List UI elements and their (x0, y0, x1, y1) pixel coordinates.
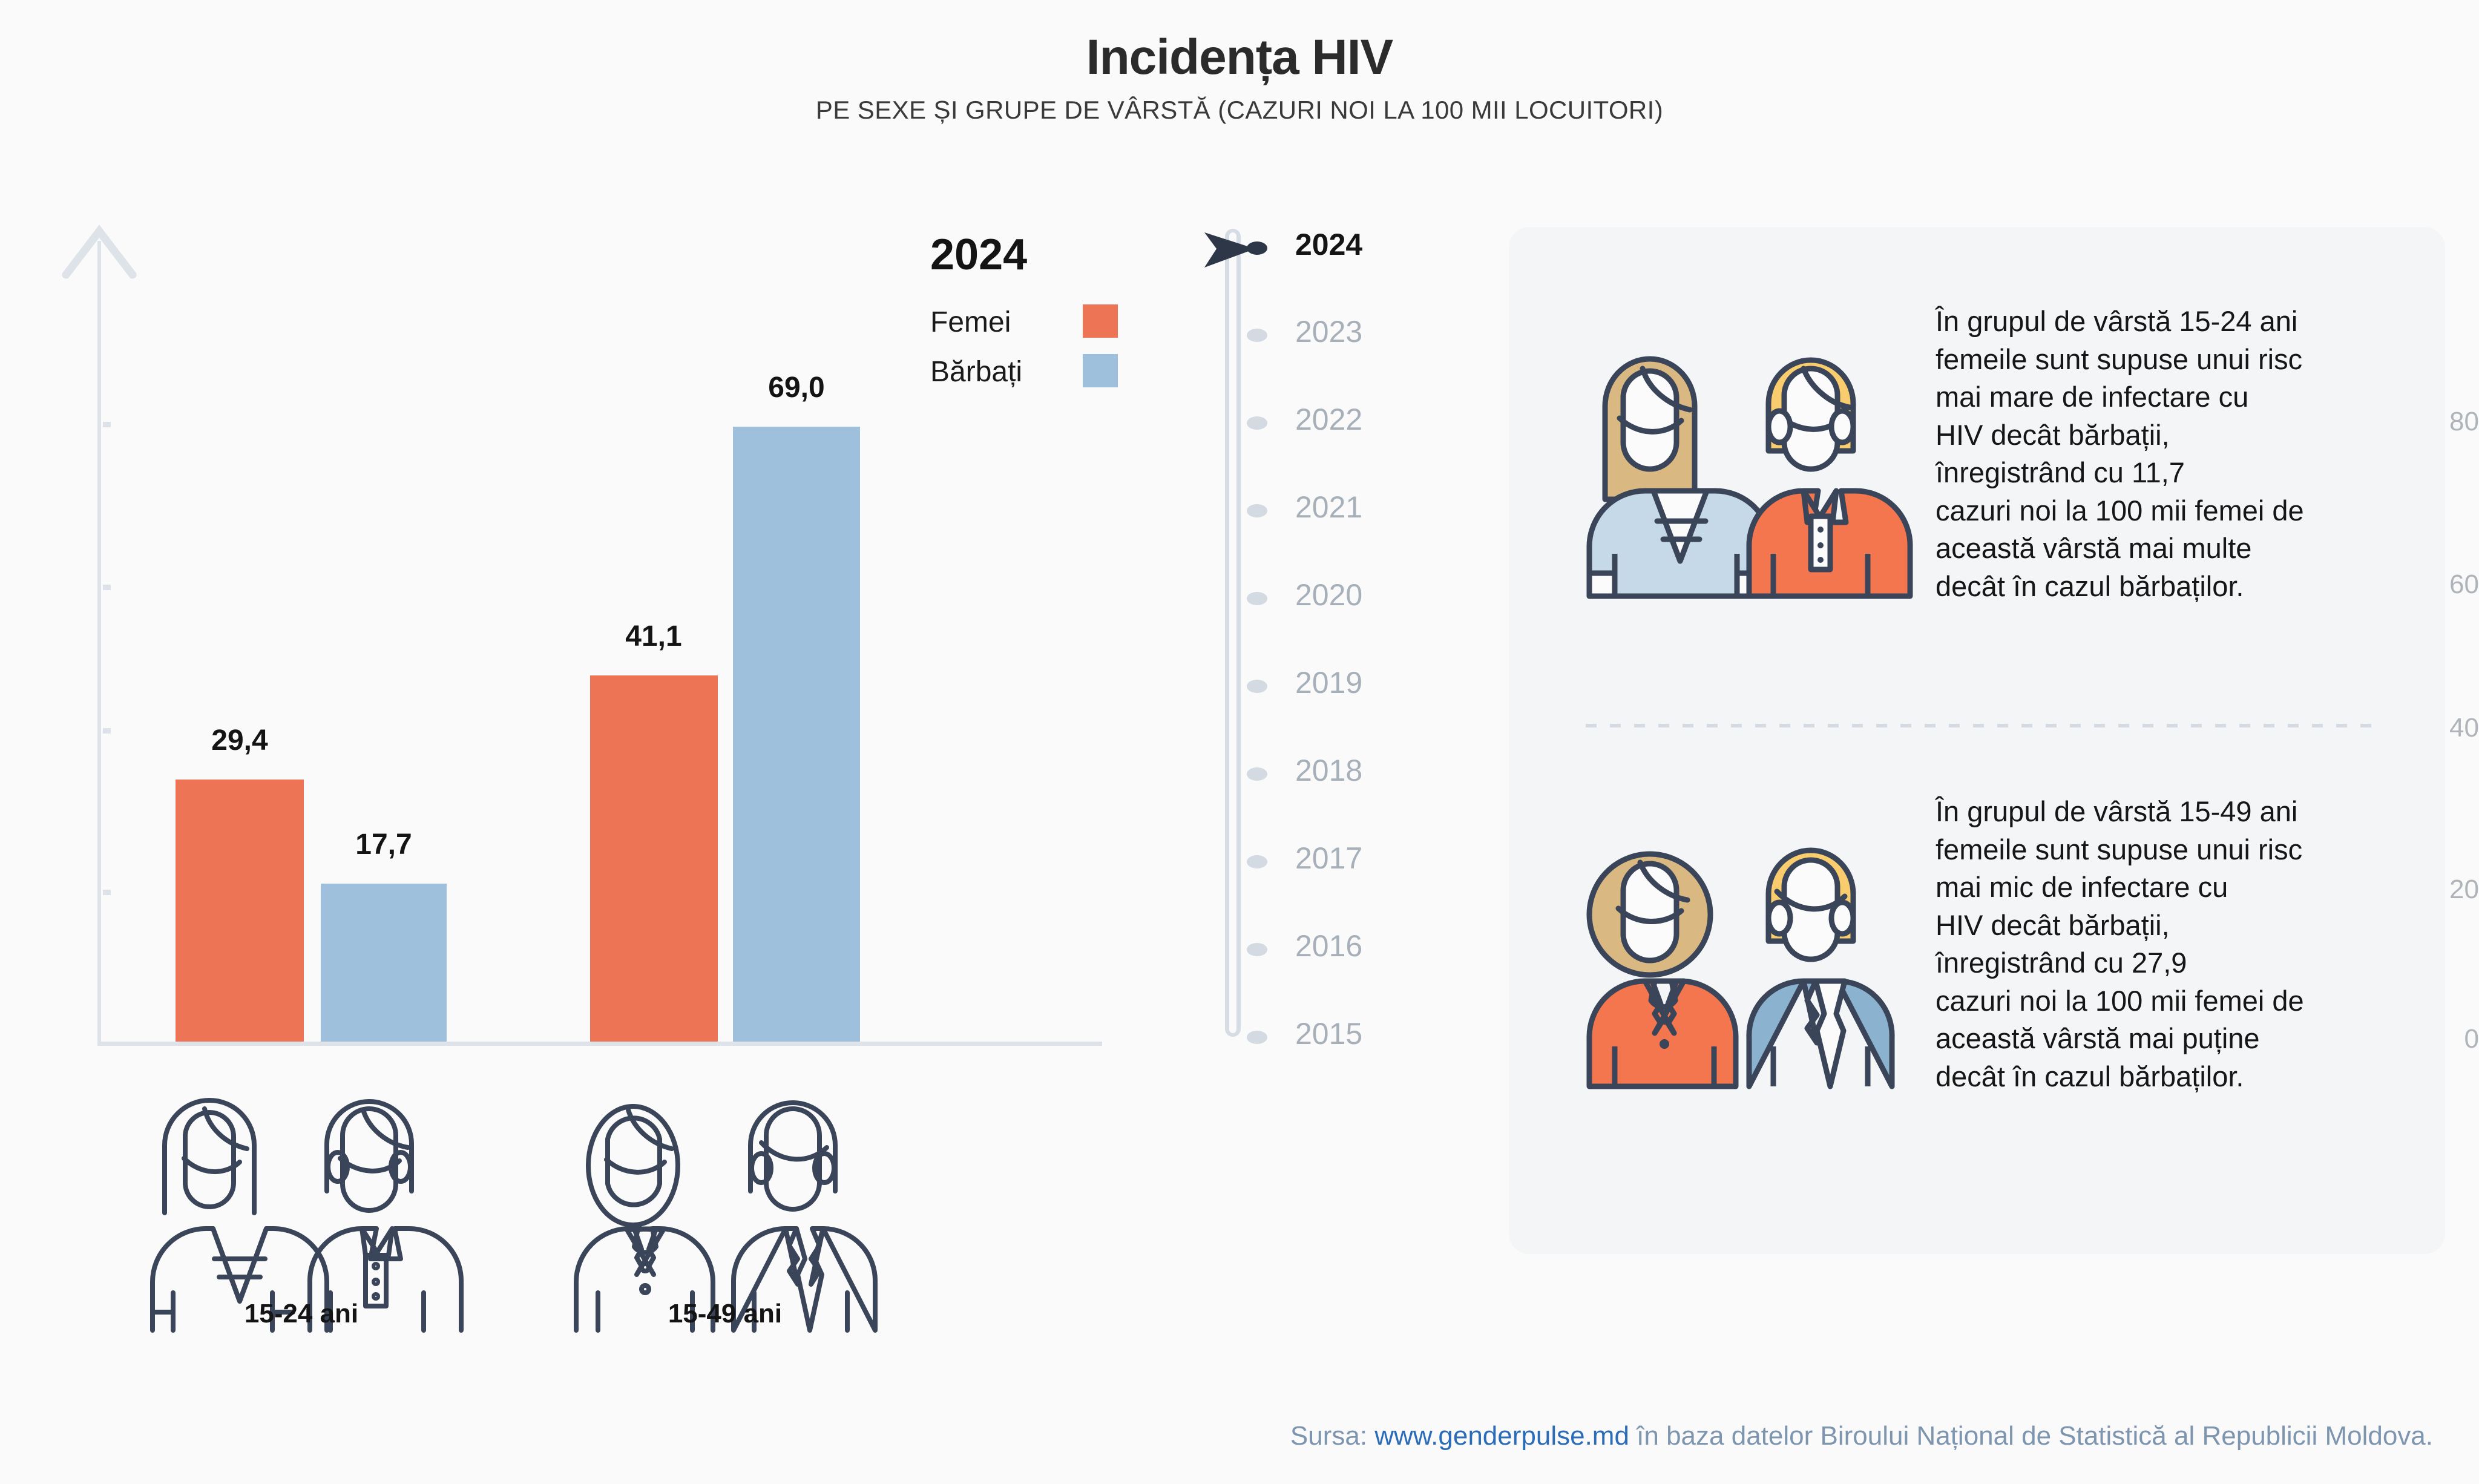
y-axis-line (97, 241, 101, 1043)
source-footer: Sursa: www.genderpulse.md în baza datelo… (0, 1421, 2457, 1451)
category-label-15-24: 15-24 ani (150, 1299, 453, 1329)
source-suffix: în baza datelor Biroului Național de Sta… (1629, 1421, 2433, 1451)
bar-barbati-15-49[interactable] (733, 427, 860, 1042)
timeline-dot (1247, 504, 1267, 517)
source-prefix: Sursa: (1290, 1421, 1374, 1451)
timeline-dot (1247, 329, 1267, 342)
timeline-dot (1247, 241, 1267, 255)
bar-barbati-15-24[interactable] (321, 884, 447, 1042)
bar-value-barbati-15-49: 69,0 (706, 371, 887, 404)
panel-divider (1586, 724, 2372, 727)
category-label-15-49: 15-49 ani (574, 1299, 876, 1329)
bar-femei-15-49[interactable] (590, 675, 718, 1042)
timeline-year-label: 2017 (1295, 841, 1362, 876)
timeline-year-label: 2023 (1295, 314, 1362, 349)
bar-femei-15-24[interactable] (176, 780, 304, 1042)
timeline-track[interactable] (1225, 229, 1241, 1037)
timeline-year-label: 2016 (1295, 928, 1362, 964)
bar-value-femei-15-24: 29,4 (149, 724, 330, 757)
timeline-year-label: 2022 (1295, 402, 1362, 437)
page-subtitle: PE SEXE ȘI GRUPE DE VÂRSTĂ (CAZURI NOI L… (0, 96, 2479, 125)
timeline-track-inner (1229, 232, 1236, 1033)
page-title: Incidența HIV (0, 29, 2479, 86)
y-tick-mark (103, 728, 111, 734)
legend-item-barbati[interactable]: Bărbați (930, 354, 1118, 390)
legend-swatch-femei (1083, 304, 1118, 338)
timeline-dot (1247, 416, 1267, 430)
info-text-15-24: În grupul de vârstă 15-24 ani femeile su… (1936, 303, 2420, 605)
legend-swatch-barbati (1083, 354, 1118, 387)
legend-label-barbati: Bărbați (930, 355, 1022, 389)
timeline-year-label: 2019 (1295, 665, 1362, 700)
timeline-year-label: 2018 (1295, 753, 1362, 788)
bar-value-femei-15-49: 41,1 (563, 620, 744, 653)
info-text-15-49: În grupul de vârstă 15-49 ani femeile su… (1936, 793, 2420, 1095)
timeline-dot (1247, 1031, 1267, 1044)
timeline-dot (1247, 592, 1267, 605)
y-tick-mark (103, 890, 111, 895)
bar-value-barbati-15-24: 17,7 (293, 828, 474, 861)
y-tick-mark (103, 422, 111, 427)
legend-label-femei: Femei (930, 306, 1011, 339)
timeline-year-label: 2020 (1295, 577, 1362, 612)
timeline-year-label: 2024 (1295, 227, 1362, 262)
timeline-year-label: 2021 (1295, 490, 1362, 525)
info-avatar-pair-15-24 (1581, 348, 1896, 596)
timeline-dot (1247, 767, 1267, 781)
timeline-dot (1247, 943, 1267, 956)
info-avatar-pair-15-49 (1581, 838, 1896, 1086)
category-icon-15-24 (144, 1100, 459, 1330)
timeline-dot (1247, 680, 1267, 693)
legend-year: 2024 (930, 230, 1027, 280)
timeline-year-label: 2015 (1295, 1016, 1362, 1051)
category-icon-15-49 (568, 1100, 882, 1330)
x-axis-line (97, 1042, 1102, 1046)
y-tick-mark (103, 585, 111, 590)
timeline-dot (1247, 855, 1267, 868)
source-link[interactable]: www.genderpulse.md (1374, 1421, 1629, 1451)
legend-item-femei[interactable]: Femei (930, 304, 1118, 341)
